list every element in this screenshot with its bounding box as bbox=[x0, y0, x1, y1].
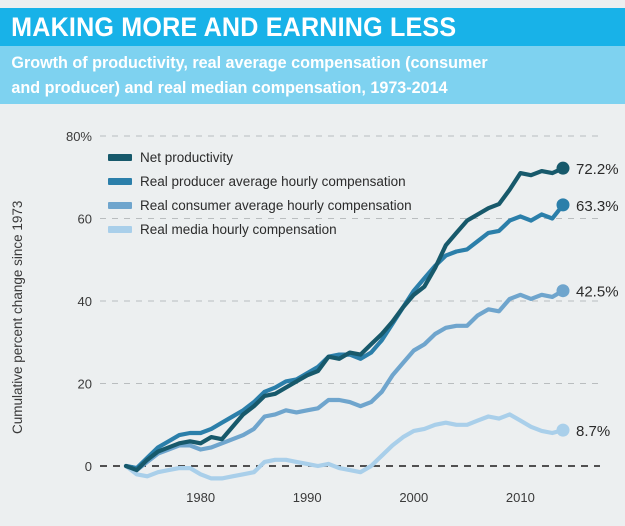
series-end-label: 8.7% bbox=[576, 423, 610, 440]
page-subtitle: Growth of productivity, real average com… bbox=[0, 50, 594, 100]
legend-label: Real consumer average hourly compensatio… bbox=[140, 198, 412, 213]
chart-container: 020406080% 1980199020002010 Cumulative p… bbox=[0, 104, 625, 526]
x-tick-label: 2010 bbox=[506, 490, 535, 505]
series-end-marker bbox=[557, 284, 570, 297]
y-tick-label: 20 bbox=[78, 377, 92, 392]
series-end-label: 42.5% bbox=[576, 284, 619, 301]
series-end-marker bbox=[557, 198, 570, 211]
title-bar: MAKING MORE AND EARNING LESS bbox=[0, 8, 625, 46]
legend-label: Real media hourly compensation bbox=[140, 222, 337, 237]
series-end-labels: 72.2%63.3%42.5%8.7% bbox=[576, 161, 619, 440]
x-tick-label: 1980 bbox=[186, 490, 215, 505]
legend-swatch bbox=[108, 226, 132, 233]
series-lines bbox=[126, 168, 563, 478]
y-tick-label: 40 bbox=[78, 294, 92, 309]
series-end-label: 63.3% bbox=[576, 198, 619, 215]
series-end-markers bbox=[557, 162, 570, 437]
x-axis-ticks: 1980199020002010 bbox=[186, 490, 535, 505]
y-tick-label: 60 bbox=[78, 212, 92, 227]
series-end-marker bbox=[557, 162, 570, 175]
x-tick-label: 2000 bbox=[399, 490, 428, 505]
legend-swatch bbox=[108, 178, 132, 185]
y-tick-label: 80% bbox=[66, 129, 92, 144]
series-end-label: 72.2% bbox=[576, 161, 619, 178]
x-tick-label: 1990 bbox=[293, 490, 322, 505]
chart-legend: Net productivityReal producer average ho… bbox=[108, 150, 412, 237]
legend-swatch bbox=[108, 154, 132, 161]
chart-page: MAKING MORE AND EARNING LESS Growth of p… bbox=[0, 0, 625, 526]
page-title: MAKING MORE AND EARNING LESS bbox=[0, 12, 456, 43]
series-line bbox=[126, 205, 563, 468]
y-tick-label: 0 bbox=[85, 459, 92, 474]
legend-label: Real producer average hourly compensatio… bbox=[140, 174, 406, 189]
series-line bbox=[126, 168, 563, 470]
y-axis-ticks: 020406080% bbox=[66, 129, 92, 474]
legend-swatch bbox=[108, 202, 132, 209]
subtitle-bar: Growth of productivity, real average com… bbox=[0, 46, 625, 104]
y-axis-title: Cumulative percent change since 1973 bbox=[10, 201, 25, 434]
series-end-marker bbox=[557, 424, 570, 437]
legend-label: Net productivity bbox=[140, 150, 233, 165]
line-chart: 020406080% 1980199020002010 Cumulative p… bbox=[0, 104, 625, 526]
